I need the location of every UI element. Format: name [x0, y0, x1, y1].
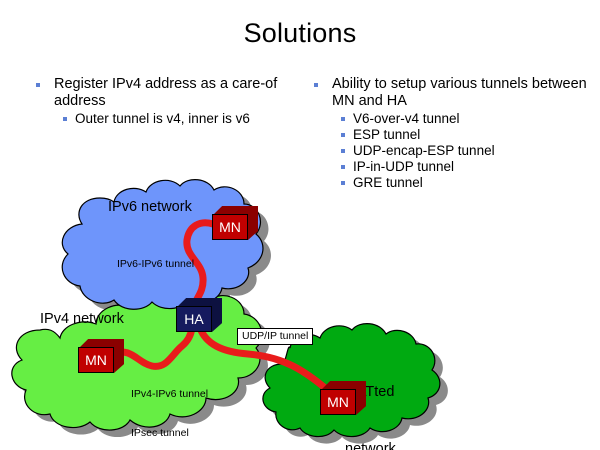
bullet-text: Register IPv4 address as a care-of addre…	[54, 76, 277, 109]
bullet-item: Register IPv4 address as a care-of addre…	[28, 76, 296, 110]
bullet-text: GRE tunnel	[353, 175, 423, 190]
slide-canvas: Solutions Register IPv4 address as a car…	[0, 0, 600, 450]
node-mn-ipv6: MN	[212, 206, 258, 240]
bullet-item: Ability to setup various tunnels between…	[306, 76, 596, 110]
bullet-item: IP-in-UDP tunnel	[306, 159, 596, 175]
tunnel-label-ipv4-group: IPv4-IPv6 tunnel IPsec tunnel	[131, 362, 208, 450]
node-mn-natted: MN	[320, 381, 366, 415]
bullet-text: UDP-encap-ESP tunnel	[353, 143, 495, 158]
bullet-item: V6-over-v4 tunnel	[306, 111, 596, 127]
bullet-text: ESP tunnel	[353, 127, 420, 142]
tunnel-label-ipsec: IPsec tunnel	[131, 427, 208, 440]
tunnel-ipv4-ipv6	[115, 328, 192, 366]
bullet-marker-icon	[314, 83, 318, 87]
bullet-text: IP-in-UDP tunnel	[353, 159, 454, 174]
network-diagram	[0, 0, 600, 450]
bullet-text: V6-over-v4 tunnel	[353, 111, 460, 126]
bullet-marker-icon	[36, 83, 40, 87]
cloud-label-natted-line2: network	[345, 440, 396, 450]
node-mn-ipv4: MN	[78, 339, 124, 373]
node-ha: HA	[176, 298, 222, 332]
node-label: HA	[176, 306, 212, 332]
bullet-item: Outer tunnel is v4, inner is v6	[28, 111, 296, 127]
bullet-marker-icon	[341, 181, 345, 185]
cloud-label-ipv6: IPv6 network	[108, 199, 192, 215]
node-label: MN	[212, 214, 248, 240]
bullet-text: Outer tunnel is v4, inner is v6	[75, 111, 250, 126]
page-title: Solutions	[0, 18, 600, 49]
bullet-item: ESP tunnel	[306, 127, 596, 143]
bullet-marker-icon	[63, 117, 67, 121]
node-label: MN	[78, 347, 114, 373]
bullet-marker-icon	[341, 117, 345, 121]
bullet-marker-icon	[341, 133, 345, 137]
bullet-item: GRE tunnel	[306, 175, 596, 191]
bullet-marker-icon	[341, 149, 345, 153]
tunnel-label-udp-ip: UDP/IP tunnel	[237, 328, 313, 345]
bullet-text: Ability to setup various tunnels between…	[332, 76, 587, 109]
bullet-item: UDP-encap-ESP tunnel	[306, 143, 596, 159]
bullet-column-left: Register IPv4 address as a care-of addre…	[28, 76, 296, 127]
tunnel-label-ipv6-ipv6: IPv6-IPv6 tunnel	[117, 258, 194, 270]
node-label: MN	[320, 389, 356, 415]
bullet-marker-icon	[341, 165, 345, 169]
tunnel-label-ipv4-ipv6: IPv4-IPv6 tunnel	[131, 388, 208, 401]
cloud-label-ipv4: IPv4 network	[40, 311, 124, 327]
bullet-column-right: Ability to setup various tunnels between…	[306, 76, 596, 191]
